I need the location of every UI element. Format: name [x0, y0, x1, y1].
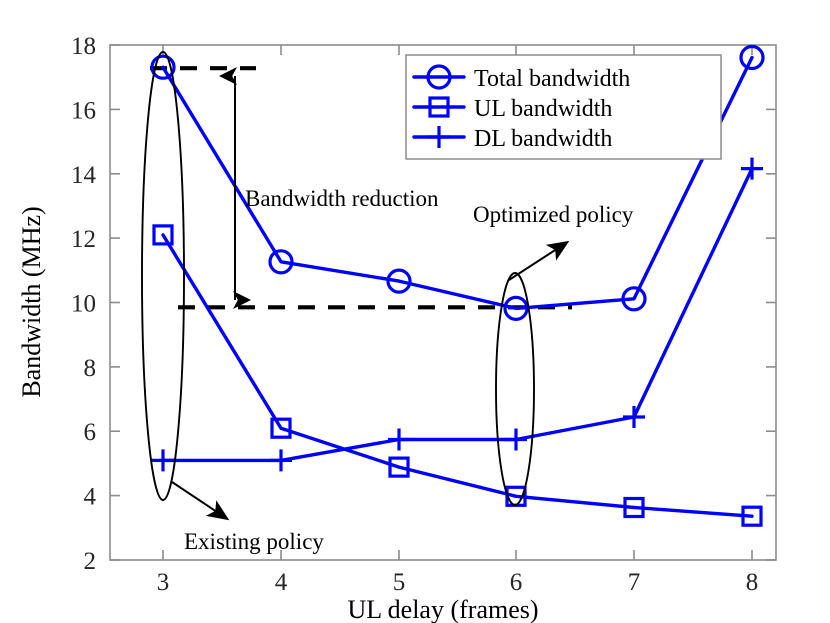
- y-tick-label: 12: [71, 226, 96, 253]
- y-tick-label: 2: [84, 548, 97, 575]
- series-dl-bandwidth: [152, 158, 763, 472]
- y-tick-label: 8: [84, 355, 97, 382]
- existing-policy-label: Existing policy: [184, 529, 324, 554]
- x-tick-label: 8: [746, 569, 759, 596]
- y-tick-label: 18: [71, 33, 96, 60]
- x-tick-labels: 3 4 5 6 7 8: [157, 569, 759, 596]
- y-tick-label: 16: [71, 97, 96, 124]
- legend-label-dl-bandwidth: DL bandwidth: [474, 126, 612, 152]
- x-tick-label: 7: [628, 569, 641, 596]
- y-tick-label: 4: [84, 484, 97, 511]
- legend-label-total-bandwidth: Total bandwidth: [474, 66, 630, 92]
- optimized-policy-label: Optimized policy: [473, 202, 634, 227]
- x-tick-label: 6: [510, 569, 523, 596]
- bandwidth-reduction-label: Bandwidth reduction: [245, 186, 439, 211]
- x-tick-label: 3: [157, 569, 170, 596]
- chart-legend: Total bandwidth UL bandwidth DL bandwidt…: [406, 55, 721, 159]
- bandwidth-vs-ul-delay-chart: 2 4 6 8 10 12 14 16 18 3 4 5 6 7 8 UL de…: [0, 0, 830, 623]
- series-ul-bandwidth: [154, 226, 761, 525]
- legend-label-ul-bandwidth: UL bandwidth: [474, 96, 612, 122]
- y-tick-label: 10: [71, 291, 96, 318]
- chart-canvas: 2 4 6 8 10 12 14 16 18 3 4 5 6 7 8 UL de…: [0, 0, 830, 623]
- dl-bandwidth-markers: [152, 158, 763, 472]
- existing-policy-ellipse: [142, 52, 184, 500]
- x-axis-title: UL delay (frames): [347, 595, 538, 623]
- y-axis-title: Bandwidth (MHz): [17, 206, 46, 397]
- y-tick-label: 6: [84, 419, 97, 446]
- y-tick-label: 14: [71, 162, 97, 189]
- existing-policy-annotation: Existing policy: [172, 482, 324, 554]
- y-tick-labels: 2 4 6 8 10 12 14 16 18: [71, 33, 97, 575]
- ul-bandwidth-line: [163, 235, 752, 516]
- x-tick-label: 4: [275, 569, 288, 596]
- x-tick-label: 5: [393, 569, 406, 596]
- optimized-policy-annotation: Optimized policy: [473, 202, 634, 280]
